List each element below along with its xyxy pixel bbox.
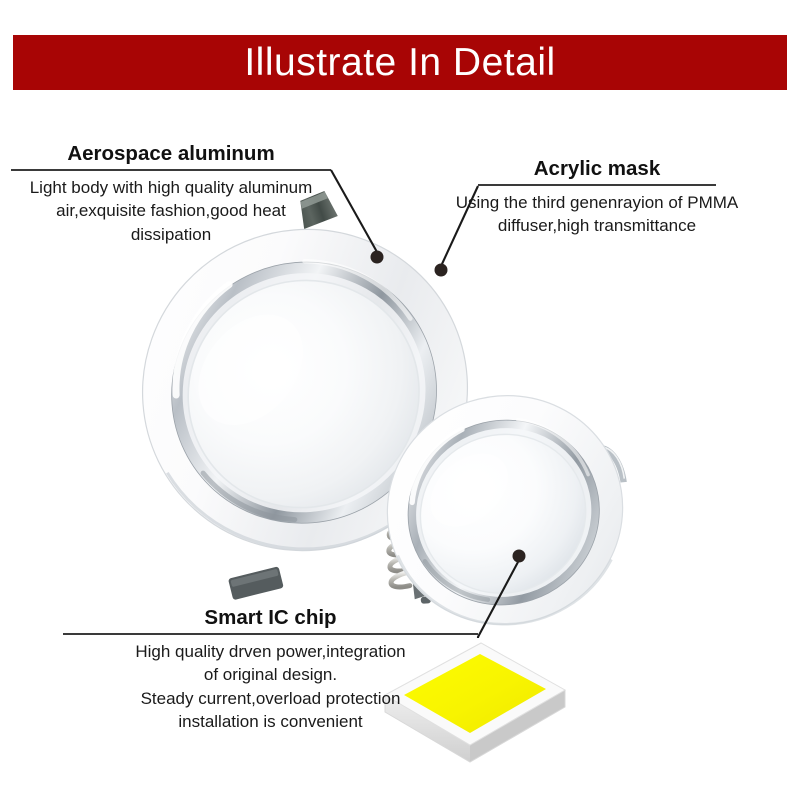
callout-aerospace-title: Aerospace aluminum	[11, 143, 331, 166]
callout-smart-ic-rule	[63, 633, 478, 635]
callout-acrylic-title: Acrylic mask	[478, 158, 716, 181]
mounting-tab-large	[228, 566, 284, 600]
callout-acrylic-body: Using the third genenrayion of PMMA diff…	[442, 191, 752, 238]
callout-aerospace-aluminum: Aerospace aluminum Light body with high …	[11, 143, 331, 246]
callout-acrylic-rule	[478, 184, 716, 186]
callout-aerospace-body: Light body with high quality aluminum ai…	[11, 176, 331, 246]
callout-acrylic-mask: Acrylic mask Using the third genenrayion…	[478, 158, 716, 238]
callout-aerospace-rule	[11, 169, 331, 171]
callout-smart-ic-chip: Smart IC chip High quality drven power,i…	[63, 607, 478, 734]
infographic-page: Illustrate In Detail	[0, 0, 800, 800]
callout-smart-ic-body: High quality drven power,integration of …	[63, 640, 478, 734]
callout-smart-ic-title: Smart IC chip	[63, 607, 478, 630]
